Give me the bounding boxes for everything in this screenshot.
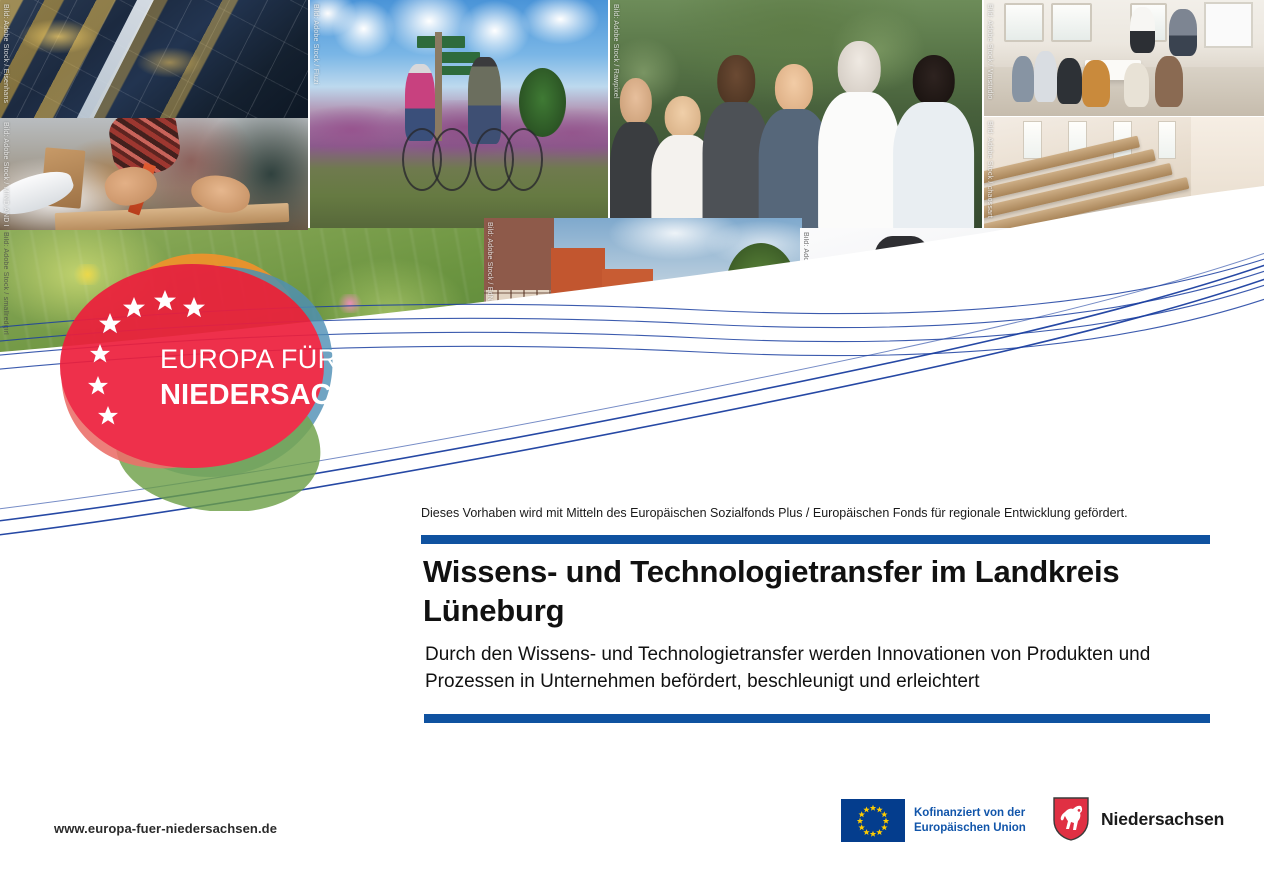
funding-note: Dieses Vorhaben wird mit Mitteln des Eur…	[421, 505, 1213, 521]
eu-flag-icon	[841, 799, 905, 842]
rule-top	[421, 535, 1210, 544]
page-subtitle: Durch den Wissens- und Technologietransf…	[425, 642, 1213, 696]
niedersachsen-emblem: Niedersachsen	[1052, 796, 1224, 842]
flyer-page: Bild: Adobe Stock / smallredgirl Bild: A…	[0, 0, 1264, 889]
logo-line-1: EUROPA FÜR	[160, 344, 338, 374]
eu-cofunding-line-1: Kofinanziert von der	[914, 806, 1026, 820]
website-url[interactable]: www.europa-fuer-niedersachsen.de	[54, 821, 277, 836]
eu-cofunding-line-2: Europäischen Union	[914, 821, 1026, 835]
logo-line-2: NIEDERSACHSEN	[160, 379, 372, 411]
niedersachsen-label: Niedersachsen	[1101, 809, 1224, 830]
rule-bottom	[424, 714, 1210, 723]
saxon-horse-shield-icon	[1052, 796, 1090, 842]
europa-fuer-niedersachsen-logo: EUROPA FÜR NIEDERSACHSEN	[42, 236, 372, 511]
content-block: Dieses Vorhaben wird mit Mitteln des Eur…	[421, 505, 1213, 723]
page-title: Wissens- und Technologietransfer im Land…	[423, 552, 1213, 630]
eu-cofunding-emblem: Kofinanziert von der Europäischen Union	[841, 799, 1026, 842]
eu-cofunding-label: Kofinanziert von der Europäischen Union	[914, 806, 1026, 835]
